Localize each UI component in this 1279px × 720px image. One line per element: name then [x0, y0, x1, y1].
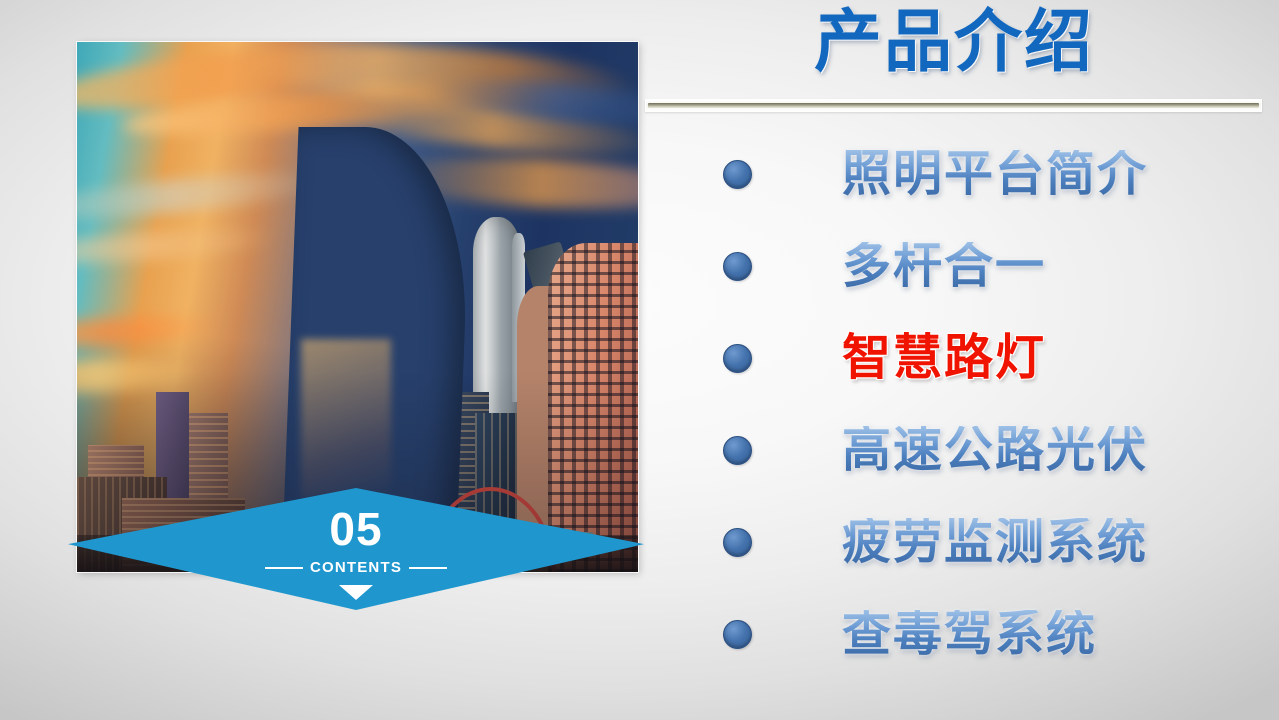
list-item-label: 疲劳监测系统 [842, 518, 1148, 567]
bullet-dot-icon [723, 528, 752, 557]
list-item[interactable]: 照明平台简介 [645, 128, 1279, 220]
list-item-label: 查毒驾系统 [842, 610, 1097, 659]
bullet-dot-icon [723, 344, 752, 373]
bullet-dot-icon [723, 620, 752, 649]
list-item-label-highlighted: 智慧路灯 [842, 334, 1046, 383]
bullet-dot-icon [723, 160, 752, 189]
page-title: 产品介绍 [645, 2, 1263, 82]
agenda-list: 照明平台简介 多杆合一 智慧路灯 高速公路光伏 疲劳监测系统 查毒驾系统 [645, 128, 1279, 714]
list-item[interactable]: 智慧路灯 [645, 312, 1279, 404]
title-divider [645, 99, 1262, 112]
list-item[interactable]: 多杆合一 [645, 220, 1279, 312]
list-item[interactable]: 疲劳监测系统 [645, 496, 1279, 588]
list-item[interactable]: 高速公路光伏 [645, 404, 1279, 496]
list-item[interactable]: 查毒驾系统 [645, 588, 1279, 680]
bullet-dot-icon [723, 252, 752, 281]
list-item-label: 高速公路光伏 [842, 426, 1148, 475]
presentation-slide: 05 CONTENTS 产品介绍 照明平台简介 多杆合一 智慧路灯 高速公路光伏 [0, 0, 1279, 720]
list-item-label: 多杆合一 [842, 242, 1046, 291]
bullet-dot-icon [723, 436, 752, 465]
list-item-label: 照明平台简介 [842, 150, 1148, 199]
